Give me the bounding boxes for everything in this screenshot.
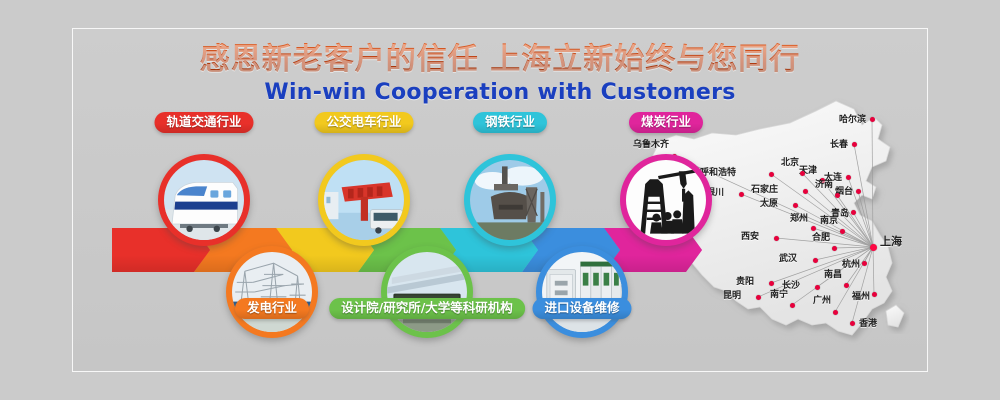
city-dot[interactable] xyxy=(756,295,761,300)
switchgear-cabinets-photo xyxy=(542,252,622,332)
industry-ring xyxy=(226,246,318,338)
industry-label[interactable]: 进口设备维修 xyxy=(532,298,631,319)
city-label: 北京 xyxy=(781,158,799,168)
industry-ring xyxy=(464,154,556,246)
city-dot[interactable] xyxy=(852,142,857,147)
industry-node[interactable]: 公交电车行业 xyxy=(318,154,410,246)
industry-ring xyxy=(318,154,410,246)
city-dot[interactable] xyxy=(769,172,774,177)
industry-photo xyxy=(542,252,622,332)
city-label: 福州 xyxy=(852,292,870,302)
city-label: 南宁 xyxy=(770,290,788,300)
city-dot[interactable] xyxy=(803,189,808,194)
industry-label[interactable]: 设计院/研究所/大学等科研机构 xyxy=(329,298,525,319)
university-gate-sign-photo: 中国矿 业大 xyxy=(387,252,467,332)
city-label: 广州 xyxy=(813,296,831,306)
city-dot[interactable] xyxy=(870,117,875,122)
city-dot[interactable] xyxy=(815,285,820,290)
city-dot[interactable] xyxy=(856,189,861,194)
city-label: 石家庄 xyxy=(751,185,778,195)
industry-label[interactable]: 轨道交通行业 xyxy=(154,112,253,133)
industry-photo xyxy=(164,160,244,240)
industry-node[interactable]: 煤炭行业 xyxy=(620,154,712,246)
city-dot[interactable] xyxy=(800,171,805,176)
city-dot[interactable] xyxy=(846,175,851,180)
city-label: 济南 xyxy=(815,180,833,190)
industry-node[interactable]: 进口设备维修 xyxy=(536,246,628,338)
city-dot[interactable] xyxy=(872,292,877,297)
industry-photo xyxy=(232,252,312,332)
city-dot[interactable] xyxy=(850,321,855,326)
industry-ring xyxy=(158,154,250,246)
city-dot[interactable] xyxy=(844,283,849,288)
industry-node[interactable]: 发电行业 xyxy=(226,246,318,338)
industry-node[interactable]: 轨道交通行业 xyxy=(158,154,250,246)
city-label: 太原 xyxy=(760,199,778,209)
high-speed-train-photo xyxy=(164,160,244,240)
city-dot[interactable] xyxy=(851,210,856,215)
city-dot[interactable] xyxy=(835,193,840,198)
city-label: 贵阳 xyxy=(736,277,754,287)
city-dot[interactable] xyxy=(774,236,779,241)
industry-ring xyxy=(536,246,628,338)
city-dot[interactable] xyxy=(790,303,795,308)
city-dot[interactable] xyxy=(811,226,816,231)
city-label: 哈尔滨 xyxy=(839,115,866,125)
city-label: 昆明 xyxy=(723,291,741,301)
city-bus-expo-photo xyxy=(324,160,404,240)
city-label: 上海 xyxy=(880,237,902,247)
city-dot[interactable] xyxy=(813,258,818,263)
city-label: 杭州 xyxy=(842,260,860,270)
power-substation-photo xyxy=(232,252,312,332)
industry-photo xyxy=(470,160,550,240)
city-label: 香港 xyxy=(859,319,877,329)
industry-label[interactable]: 公交电车行业 xyxy=(314,112,413,133)
city-dot[interactable] xyxy=(769,281,774,286)
industry-node[interactable]: 中国矿 业大 设计院/研究所/大学等科研机构 xyxy=(381,246,473,338)
city-label: 合肥 xyxy=(812,233,830,243)
steel-blast-furnace-photo xyxy=(470,160,550,240)
city-label: 长春 xyxy=(830,140,848,150)
industry-photo xyxy=(324,160,404,240)
city-label: 南昌 xyxy=(824,270,842,280)
city-dot[interactable] xyxy=(840,229,845,234)
page-title-cn: 感恩新老客户的信任 上海立新始终与您同行 xyxy=(0,42,1000,78)
banner-stage: 感恩新老客户的信任 上海立新始终与您同行 感恩新老客户的信任 上海立新始终与您同… xyxy=(0,0,1000,400)
city-dot[interactable] xyxy=(793,203,798,208)
industry-ring: 中国矿 业大 xyxy=(381,246,473,338)
city-dot[interactable] xyxy=(870,244,877,251)
industry-label[interactable]: 钢铁行业 xyxy=(473,112,547,133)
city-dot[interactable] xyxy=(862,261,867,266)
city-label: 郑州 xyxy=(790,214,808,224)
city-label: 西安 xyxy=(741,232,759,242)
industry-ring xyxy=(620,154,712,246)
industry-label[interactable]: 发电行业 xyxy=(235,298,309,319)
city-label: 乌鲁木齐 xyxy=(633,140,669,150)
city-dot[interactable] xyxy=(833,310,838,315)
industry-label[interactable]: 煤炭行业 xyxy=(629,112,703,133)
city-dot[interactable] xyxy=(739,192,744,197)
industry-photo xyxy=(626,160,706,240)
industry-photo: 中国矿 业大 xyxy=(387,252,467,332)
industry-node[interactable]: 钢铁行业 xyxy=(464,154,556,246)
coal-mine-workers-photo xyxy=(626,160,706,240)
city-label: 南京 xyxy=(820,216,838,226)
city-dot[interactable] xyxy=(832,246,837,251)
city-label: 武汉 xyxy=(779,254,797,264)
